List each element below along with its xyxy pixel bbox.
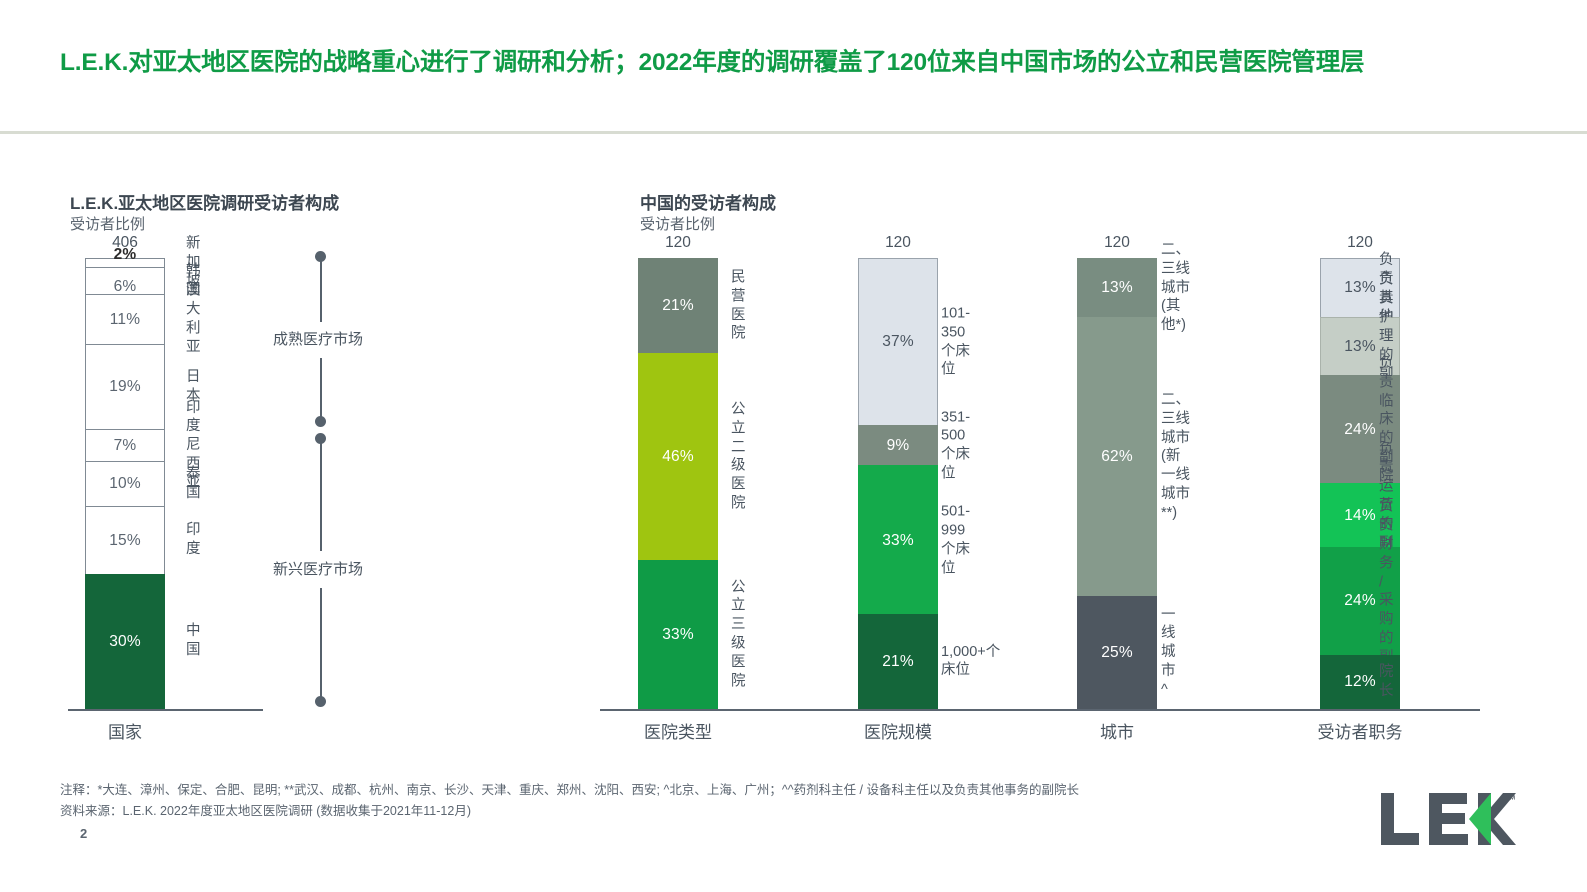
bar-segment[interactable]: 13%二、三线城市 (其他*): [1077, 258, 1157, 317]
bar-segment[interactable]: 19%日本: [85, 344, 165, 430]
slide: L.E.K.对亚太地区医院的战略重心进行了调研和分析；2022年度的调研覆盖了1…: [0, 0, 1587, 892]
bar-total-hospital-size: 120: [858, 234, 938, 252]
axis-label-country: 国家: [40, 718, 210, 743]
segment-percent: 13%: [1344, 280, 1376, 296]
footnote-note: 注释：*大连、漳州、保定、合肥、昆明; **武汉、成都、杭州、南京、长沙、天津、…: [60, 781, 1079, 800]
bar-total-city-tier: 120: [1077, 234, 1157, 252]
page-number: 2: [80, 826, 87, 841]
segment-percent: 14%: [1344, 508, 1376, 524]
segment-percent: 11%: [110, 312, 140, 328]
bar-segment[interactable]: 11%澳大利亚: [85, 294, 165, 344]
segment-percent: 24%: [1344, 593, 1376, 609]
segment-percent: 25%: [1101, 645, 1133, 661]
footnote-source: 资料来源：L.E.K. 2022年度亚太地区医院调研 (数据收集于2021年11…: [60, 802, 471, 821]
logo-trademark: ™: [1505, 794, 1516, 806]
bar-segment[interactable]: 46%公立二级 医院: [638, 353, 718, 560]
bar-segment[interactable]: 33%501-999个床 位: [858, 465, 938, 614]
segment-label: 1,000+个床位: [941, 643, 1000, 681]
segment-label: 一线城市^: [1161, 606, 1176, 700]
segment-percent: 6%: [114, 279, 137, 295]
segment-label: 公立二级 医院: [731, 400, 746, 513]
bracket-line-mid-lower: [320, 443, 322, 551]
bar-segment[interactable]: 10%泰国: [85, 461, 165, 506]
segment-percent: 46%: [662, 449, 694, 465]
segment-percent: 24%: [1344, 422, 1376, 438]
bracket-dot-bottom: [315, 696, 326, 707]
segment-percent: 10%: [109, 476, 141, 492]
bar-segment[interactable]: 7%印度尼西 亚: [85, 429, 165, 461]
axis-line-china: [600, 709, 1480, 711]
segment-label: 公立三级 医院: [731, 578, 746, 691]
segment-label: 351-500个床 位: [941, 408, 970, 483]
segment-percent: 21%: [882, 654, 914, 670]
segment-percent: 13%: [1344, 339, 1376, 355]
segment-label: 二、三线城市 (其他*): [1161, 241, 1190, 335]
axis-label-hospital-type: 医院类型: [593, 718, 763, 743]
bracket-line-lower: [320, 588, 322, 698]
bar-segment[interactable]: 9%351-500个床 位: [858, 425, 938, 466]
segment-percent: 13%: [1101, 280, 1133, 296]
segment-label: 澳大利亚: [186, 282, 201, 357]
segment-percent: 12%: [1344, 674, 1376, 690]
stacked-bar-city-tier[interactable]: 13%二、三线城市 (其他*)62%二、三线城市 (新一线城市**)25%一线城…: [1077, 258, 1157, 709]
china-panel-subtitle: 受访者比例: [640, 213, 715, 234]
segment-label: 501-999个床 位: [941, 503, 970, 578]
axis-label-hospital-size: 医院规模: [813, 718, 983, 743]
segment-percent: 30%: [109, 634, 141, 650]
bracket-dot-mid-1: [315, 416, 326, 427]
bar-segment[interactable]: 37%101-350个床 位: [858, 258, 938, 425]
bar-segment[interactable]: 30%中国: [85, 574, 165, 709]
segment-percent: 33%: [662, 627, 694, 643]
bar-total-respondent-role: 120: [1320, 234, 1400, 252]
segment-percent: 62%: [1101, 449, 1133, 465]
bar-segment[interactable]: 33%公立三级 医院: [638, 560, 718, 709]
stacked-bar-hospital-size[interactable]: 37%101-350个床 位9%351-500个床 位33%501-999个床 …: [858, 258, 938, 709]
bar-segment[interactable]: 21%民营医院: [638, 258, 718, 353]
segment-label: 二、三线城市 (新一线城市**): [1161, 391, 1190, 523]
bracket-line-upper: [320, 260, 322, 322]
segment-label: 泰国: [186, 465, 201, 503]
segment-percent: 33%: [882, 533, 914, 549]
bracket-label-mature: 成熟医疗市场: [273, 328, 363, 349]
page-title: L.E.K.对亚太地区医院的战略重心进行了调研和分析；2022年度的调研覆盖了1…: [60, 46, 1530, 81]
segment-label: 院长: [1379, 663, 1399, 701]
china-panel-title: 中国的受访者构成: [640, 189, 776, 214]
bar-segment[interactable]: 24%负责财务 / 采购的 副院长: [1320, 547, 1400, 655]
axis-label-respondent-role: 受访者职务: [1275, 718, 1445, 743]
bar-segment[interactable]: 21%1,000+个床位: [858, 614, 938, 709]
segment-percent: 15%: [109, 533, 141, 549]
apac-panel-title: L.E.K.亚太地区医院调研受访者构成: [70, 189, 339, 214]
header-divider: [0, 131, 1587, 134]
segment-label: 民营医院: [731, 268, 746, 343]
lek-logo: ™: [1381, 789, 1516, 849]
segment-label: 印度: [186, 521, 201, 559]
stacked-bar-hospital-type[interactable]: 21%民营医院46%公立二级 医院33%公立三级 医院: [638, 258, 718, 709]
bar-segment[interactable]: 2%新加坡: [85, 258, 165, 267]
axis-line-country: [68, 709, 263, 711]
bracket-label-emerging: 新兴医疗市场: [273, 558, 363, 579]
stacked-bar-country[interactable]: 2%新加坡6%韩国11%澳大利亚19%日本7%印度尼西 亚10%泰国15%印度3…: [85, 258, 165, 709]
segment-percent: 7%: [114, 438, 137, 454]
segment-percent: 19%: [109, 379, 141, 395]
bar-segment[interactable]: 62%二、三线城市 (新一线城市**): [1077, 317, 1157, 597]
segment-percent: 21%: [662, 298, 694, 314]
bar-total-hospital-type: 120: [638, 234, 718, 252]
segment-label: 101-350个床 位: [941, 304, 970, 379]
segment-percent: 2%: [114, 247, 137, 263]
apac-panel-subtitle: 受访者比例: [70, 213, 145, 234]
segment-percent: 9%: [887, 438, 910, 454]
segment-percent: 37%: [882, 334, 914, 350]
bar-segment[interactable]: 25%一线城市^: [1077, 596, 1157, 709]
bar-segment[interactable]: 12%院长: [1320, 655, 1400, 709]
bracket-line-mid-upper: [320, 358, 322, 418]
bar-segment[interactable]: 6%韩国: [85, 267, 165, 294]
bar-segment[interactable]: 15%印度: [85, 506, 165, 574]
stacked-bar-respondent-role[interactable]: 13%负责其他事务的 副院长 / 主任^^13%负责护理的副院 长24%负责临床…: [1320, 258, 1400, 709]
axis-label-city-tier: 城市: [1032, 718, 1202, 743]
segment-label: 中国: [186, 622, 201, 660]
